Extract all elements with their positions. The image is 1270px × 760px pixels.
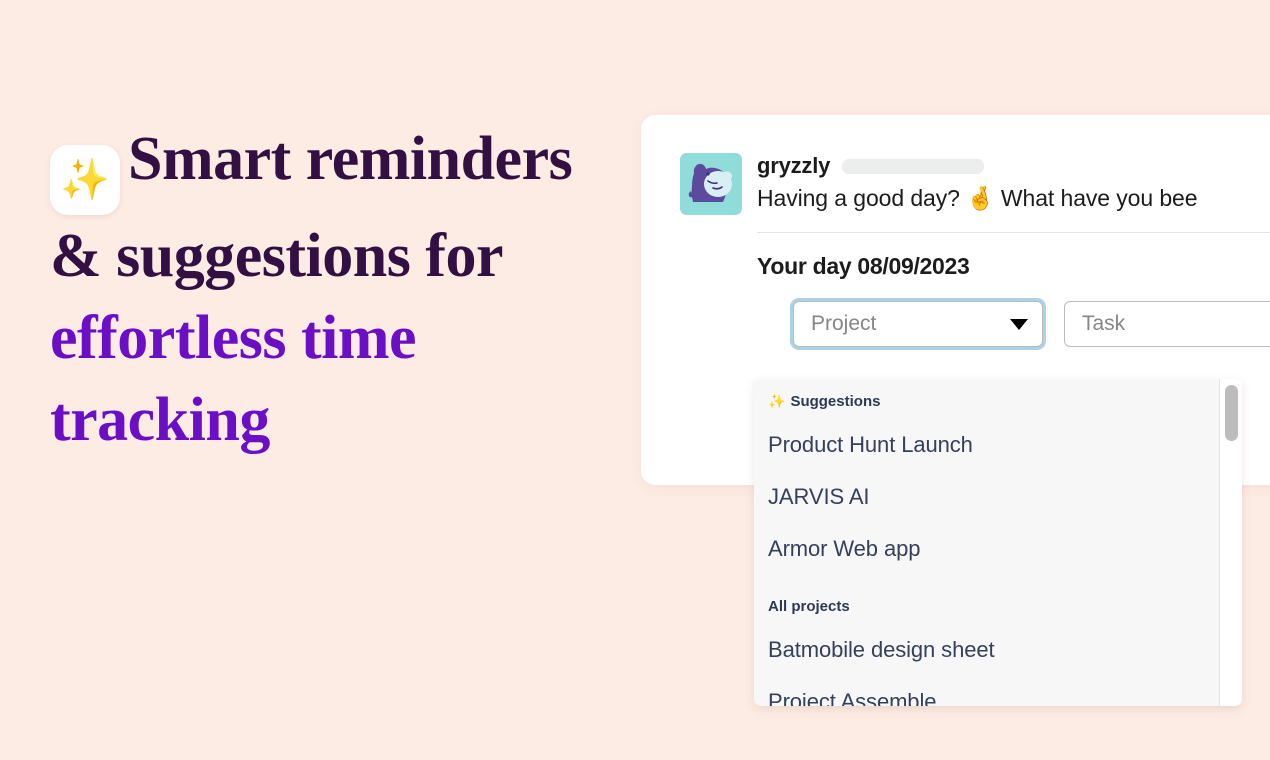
crossed-fingers-icon: 🤞: [966, 186, 995, 212]
divider: [757, 232, 1270, 233]
list-item[interactable]: Batmobile design sheet: [754, 624, 1219, 676]
sparkles-icon: ✨: [50, 145, 120, 215]
project-select-value: Project: [811, 312, 876, 336]
scrollbar-thumb[interactable]: [1225, 385, 1238, 441]
list-item[interactable]: JARVIS AI: [754, 471, 1219, 523]
sparkles-icon: ✨: [768, 394, 785, 410]
message-text: Having a good day? 🤞 What have you bee: [757, 181, 1270, 216]
dropdown-list: ✨ Suggestions Product Hunt Launch JARVIS…: [754, 379, 1219, 706]
avatar: [680, 153, 742, 215]
page-title: ✨Smart reminders & suggestions for effor…: [50, 118, 630, 461]
dropdown-group-label: Suggestions: [790, 393, 880, 410]
hero-line-1: Smart reminders: [128, 125, 572, 193]
chevron-down-icon: [1010, 319, 1028, 330]
hero-line-3: effortless time: [50, 304, 416, 372]
task-select-value: Task: [1082, 312, 1125, 336]
project-select[interactable]: Project: [793, 301, 1043, 347]
list-item[interactable]: Armor Web app: [754, 523, 1219, 575]
timestamp-placeholder: [842, 159, 984, 174]
dropdown-group-label: All projects: [768, 598, 850, 615]
project-dropdown[interactable]: ✨ Suggestions Product Hunt Launch JARVIS…: [754, 379, 1242, 706]
message-row: gryzzly Having a good day? 🤞 What have y…: [680, 153, 1270, 216]
dropdown-group-header-suggestions: ✨ Suggestions: [754, 393, 1219, 410]
day-title: Your day 08/09/2023: [757, 253, 1270, 280]
list-item[interactable]: Project Assemble: [754, 676, 1219, 706]
list-item[interactable]: Product Hunt Launch: [754, 419, 1219, 471]
message-text-part-1: Having a good day?: [757, 185, 966, 211]
dropdown-scrollbar[interactable]: [1219, 379, 1242, 706]
hero-line-2: & suggestions for: [50, 222, 503, 290]
selects-row: Project Task: [793, 301, 1270, 347]
message-author: gryzzly: [757, 153, 830, 179]
dropdown-group-header-all-projects: All projects: [754, 598, 1219, 615]
hero-line-4: tracking: [50, 386, 270, 454]
hero-section: ✨Smart reminders & suggestions for effor…: [50, 118, 630, 461]
task-select[interactable]: Task: [1064, 301, 1270, 347]
message-text-part-2: What have you bee: [995, 185, 1198, 211]
